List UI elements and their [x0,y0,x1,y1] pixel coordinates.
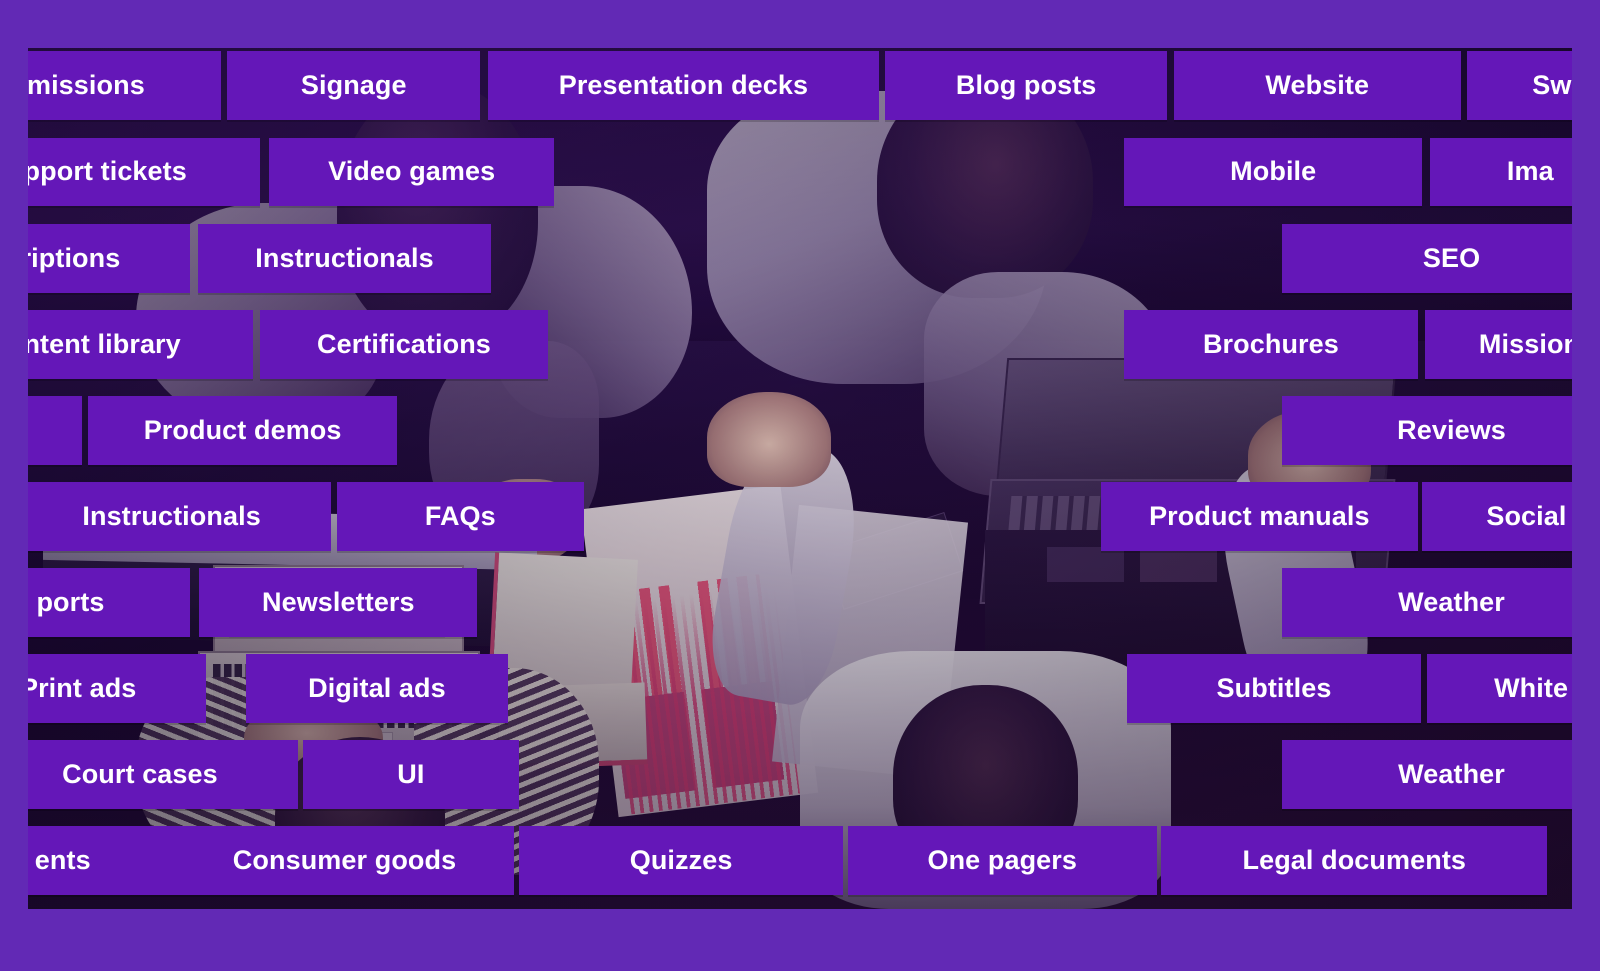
content-type-tile[interactable]: Weather [1282,740,1600,809]
content-type-tile[interactable]: missions [0,51,221,120]
screenshot-canvas: missionsSignagePresentation decksBlog po… [0,0,1600,971]
content-type-tile[interactable]: Blog posts [885,51,1168,120]
frame-top [0,0,1600,48]
content-type-tile[interactable]: UI [303,740,519,809]
content-type-tile[interactable]: Print ads [0,654,206,723]
content-type-tile[interactable]: Mobile [1124,138,1422,207]
content-type-tile[interactable]: SEO [1282,224,1600,293]
brick-row: missionsSignagePresentation decksBlog po… [28,48,1572,134]
content-type-tile[interactable]: Website [1174,51,1461,120]
content-type-tile[interactable]: Signage [227,51,480,120]
content-type-tile[interactable]: Quizzes [519,826,843,895]
content-type-tile[interactable]: Presentation decks [488,51,879,120]
brick-row: InstructionalsFAQsProduct manualsSocial [28,479,1572,565]
frame-left [0,0,28,971]
content-type-tile[interactable]: pport tickets [0,138,260,207]
content-type-tile[interactable]: Weather [1282,568,1600,637]
content-type-brick-wall: missionsSignagePresentation decksBlog po… [28,48,1572,909]
brick-row: pport ticketsVideo gamesMobileIma [28,134,1572,220]
content-type-tile[interactable]: Consumer goods [175,826,515,895]
content-type-tile[interactable]: Brochures [1124,310,1417,379]
content-type-tile[interactable]: Certifications [260,310,549,379]
frame-right [1572,0,1600,971]
content-type-tile[interactable]: Reviews [1282,396,1600,465]
brick-row: entsConsumer goodsQuizzesOne pagersLegal… [28,823,1572,909]
content-type-tile[interactable]: Newsletters [199,568,477,637]
brick-row: ntent libraryCertificationsBrochuresMiss… [28,306,1572,392]
brick-row: Print adsDigital adsSubtitlesWhite [28,651,1572,737]
frame-bottom [0,909,1600,971]
content-type-tile[interactable]: ports [0,568,190,637]
content-type-tile[interactable]: FAQs [337,482,584,551]
content-type-tile[interactable]: Product manuals [1101,482,1418,551]
brick-row: Product demosReviews [28,392,1572,478]
content-type-tile[interactable]: Product demos [88,396,397,465]
content-type-tile[interactable]: riptions [0,224,190,293]
content-type-tile[interactable]: Video games [269,138,555,207]
content-type-tile[interactable]: Court cases [0,740,298,809]
content-type-tile[interactable]: ntent library [0,310,253,379]
brick-row: riptionsInstructionalsSEO [28,220,1572,306]
content-type-tile[interactable]: Instructionals [198,224,491,293]
content-type-tile[interactable]: Instructionals [13,482,331,551]
content-type-tile[interactable]: Legal documents [1161,826,1547,895]
content-type-tile[interactable]: Digital ads [246,654,508,723]
brick-row: portsNewslettersWeather [28,565,1572,651]
brick-row: Court casesUIWeather [28,737,1572,823]
content-type-tile[interactable]: Subtitles [1127,654,1420,723]
content-type-tile[interactable]: One pagers [848,826,1157,895]
